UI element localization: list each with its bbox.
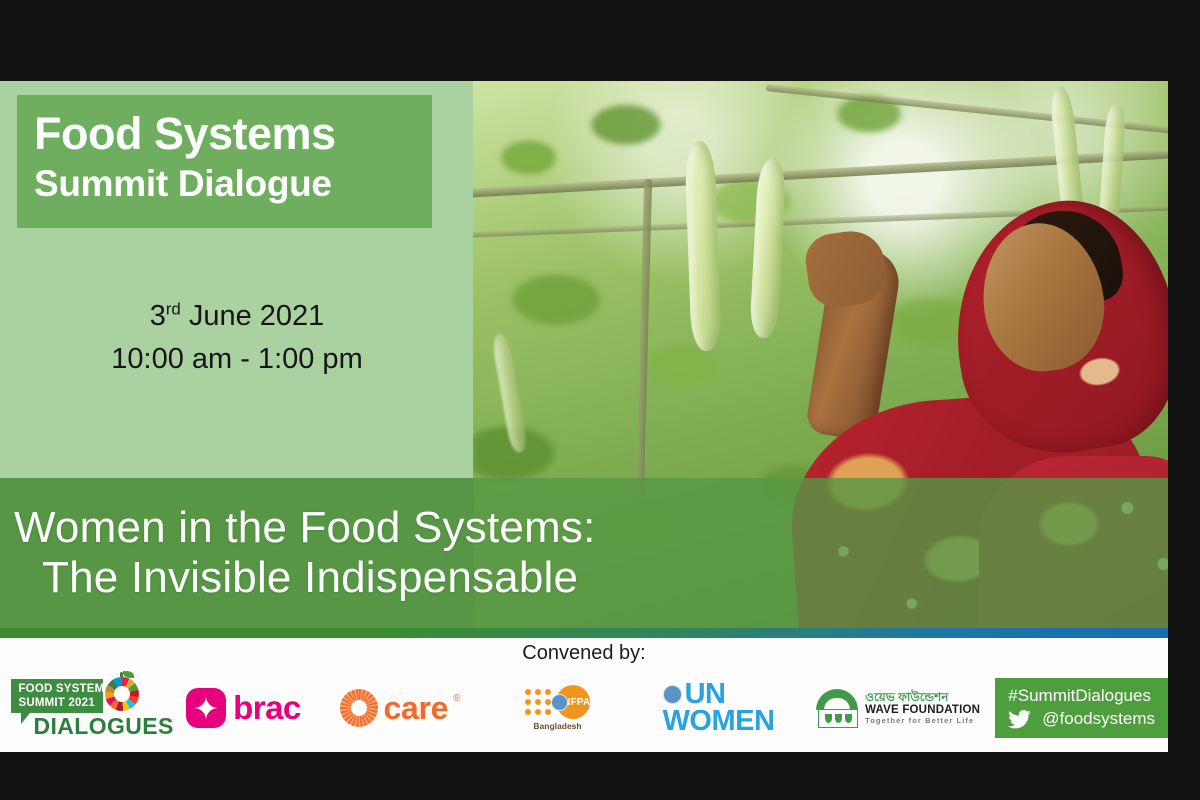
un-women-line-1: UN	[663, 681, 726, 708]
twitter-bird-icon	[1008, 710, 1031, 729]
headline-banner: Women in the Food Systems: The Invisible…	[0, 478, 1168, 628]
wave-box-icon	[818, 709, 858, 728]
fss-bubble-line-2: SUMMIT 2021	[18, 697, 94, 709]
presentation-slide: Food Systems Summit Dialogue 3rd June 20…	[0, 0, 1200, 800]
logo-care: care ®	[322, 672, 479, 744]
logo-un-women: UN WOMEN	[636, 672, 801, 744]
logo-brac: brac	[165, 672, 322, 744]
unfpa-logo: UNFPA Bangladesh	[525, 685, 590, 731]
event-time: 10:00 am - 1:00 pm	[0, 343, 474, 376]
headline-line-1: Women in the Food Systems:	[14, 503, 1168, 553]
brac-pinwheel-icon	[186, 688, 226, 728]
un-women-logo: UN WOMEN	[663, 681, 775, 736]
un-emblem-icon	[551, 694, 568, 711]
date-ordinal-suffix: rd	[166, 299, 181, 318]
slide-content-frame: Food Systems Summit Dialogue 3rd June 20…	[0, 81, 1168, 752]
un-emblem-icon	[663, 685, 682, 704]
social-block[interactable]: #SummitDialogues @foodsystems	[995, 678, 1168, 738]
wave-emblem-icon	[816, 689, 858, 727]
summit-hashtag[interactable]: #SummitDialogues	[1008, 686, 1155, 706]
unfpa-mark-row: UNFPA	[525, 685, 590, 719]
convened-by-label: Convened by:	[0, 642, 1168, 665]
un-women-wordmark-un: UN	[685, 681, 726, 708]
fss-dialogues-logo: FOOD SYSTEMS SUMMIT 2021 DIALOGUES	[7, 677, 157, 739]
wave-bangla-name: ওয়েভ ফাউন্ডেশন	[865, 691, 980, 704]
partner-logo-bar: Convened by: FOOD SYSTEMS SUMMIT 2021 DI…	[0, 638, 1168, 752]
brac-logo: brac	[186, 688, 301, 728]
un-women-wordmark-women: WOMEN	[663, 708, 775, 735]
headline-text-block: Women in the Food Systems: The Invisible…	[0, 478, 1168, 628]
fss-wordmark: DIALOGUES	[33, 713, 173, 740]
title-line-1: Food Systems	[34, 108, 336, 160]
brac-wordmark: brac	[233, 689, 301, 727]
care-logo: care ®	[340, 689, 460, 727]
title-box: Food Systems Summit Dialogue	[17, 95, 432, 228]
unfpa-dots-icon	[525, 689, 551, 715]
wave-arc-icon	[816, 689, 858, 710]
event-date-text: 3rd June 2021	[150, 300, 325, 332]
unfpa-disc: UNFPA	[556, 685, 590, 719]
logo-wave-foundation: ওয়েভ ফাউন্ডেশন WAVE FOUNDATION Together…	[801, 672, 995, 744]
logo-unfpa-bangladesh: UNFPA Bangladesh	[479, 672, 636, 744]
care-registered-mark: ®	[453, 693, 460, 704]
care-sunburst-icon	[340, 689, 378, 727]
wave-tagline: Together for Better Life	[865, 717, 980, 725]
wave-foundation-logo: ওয়েভ ফাউন্ডেশন WAVE FOUNDATION Together…	[816, 689, 980, 727]
accent-stripe	[0, 628, 1168, 638]
event-date: 3rd June 2021	[0, 299, 474, 333]
headline-line-2: The Invisible Indispensable	[14, 553, 1168, 603]
unfpa-country-label: Bangladesh	[533, 721, 581, 731]
twitter-handle[interactable]: @foodsystems	[1042, 709, 1155, 729]
care-wordmark: care	[383, 690, 448, 727]
sdg-wheel-icon	[105, 677, 139, 711]
logo-row: FOOD SYSTEMS SUMMIT 2021 DIALOGUES brac	[0, 672, 1168, 744]
fss-bubble-line-1: FOOD SYSTEMS	[18, 683, 112, 695]
wave-text-block: ওয়েভ ফাউন্ডেশন WAVE FOUNDATION Together…	[865, 691, 980, 726]
twitter-handle-row[interactable]: @foodsystems	[1008, 709, 1155, 729]
left-info-panel: Food Systems Summit Dialogue 3rd June 20…	[0, 81, 474, 478]
social-slot: #SummitDialogues @foodsystems	[995, 672, 1168, 744]
logo-food-systems-summit-dialogues: FOOD SYSTEMS SUMMIT 2021 DIALOGUES	[0, 672, 165, 744]
speech-bubble-icon: FOOD SYSTEMS SUMMIT 2021	[11, 679, 103, 713]
title-line-2: Summit Dialogue	[34, 163, 332, 205]
